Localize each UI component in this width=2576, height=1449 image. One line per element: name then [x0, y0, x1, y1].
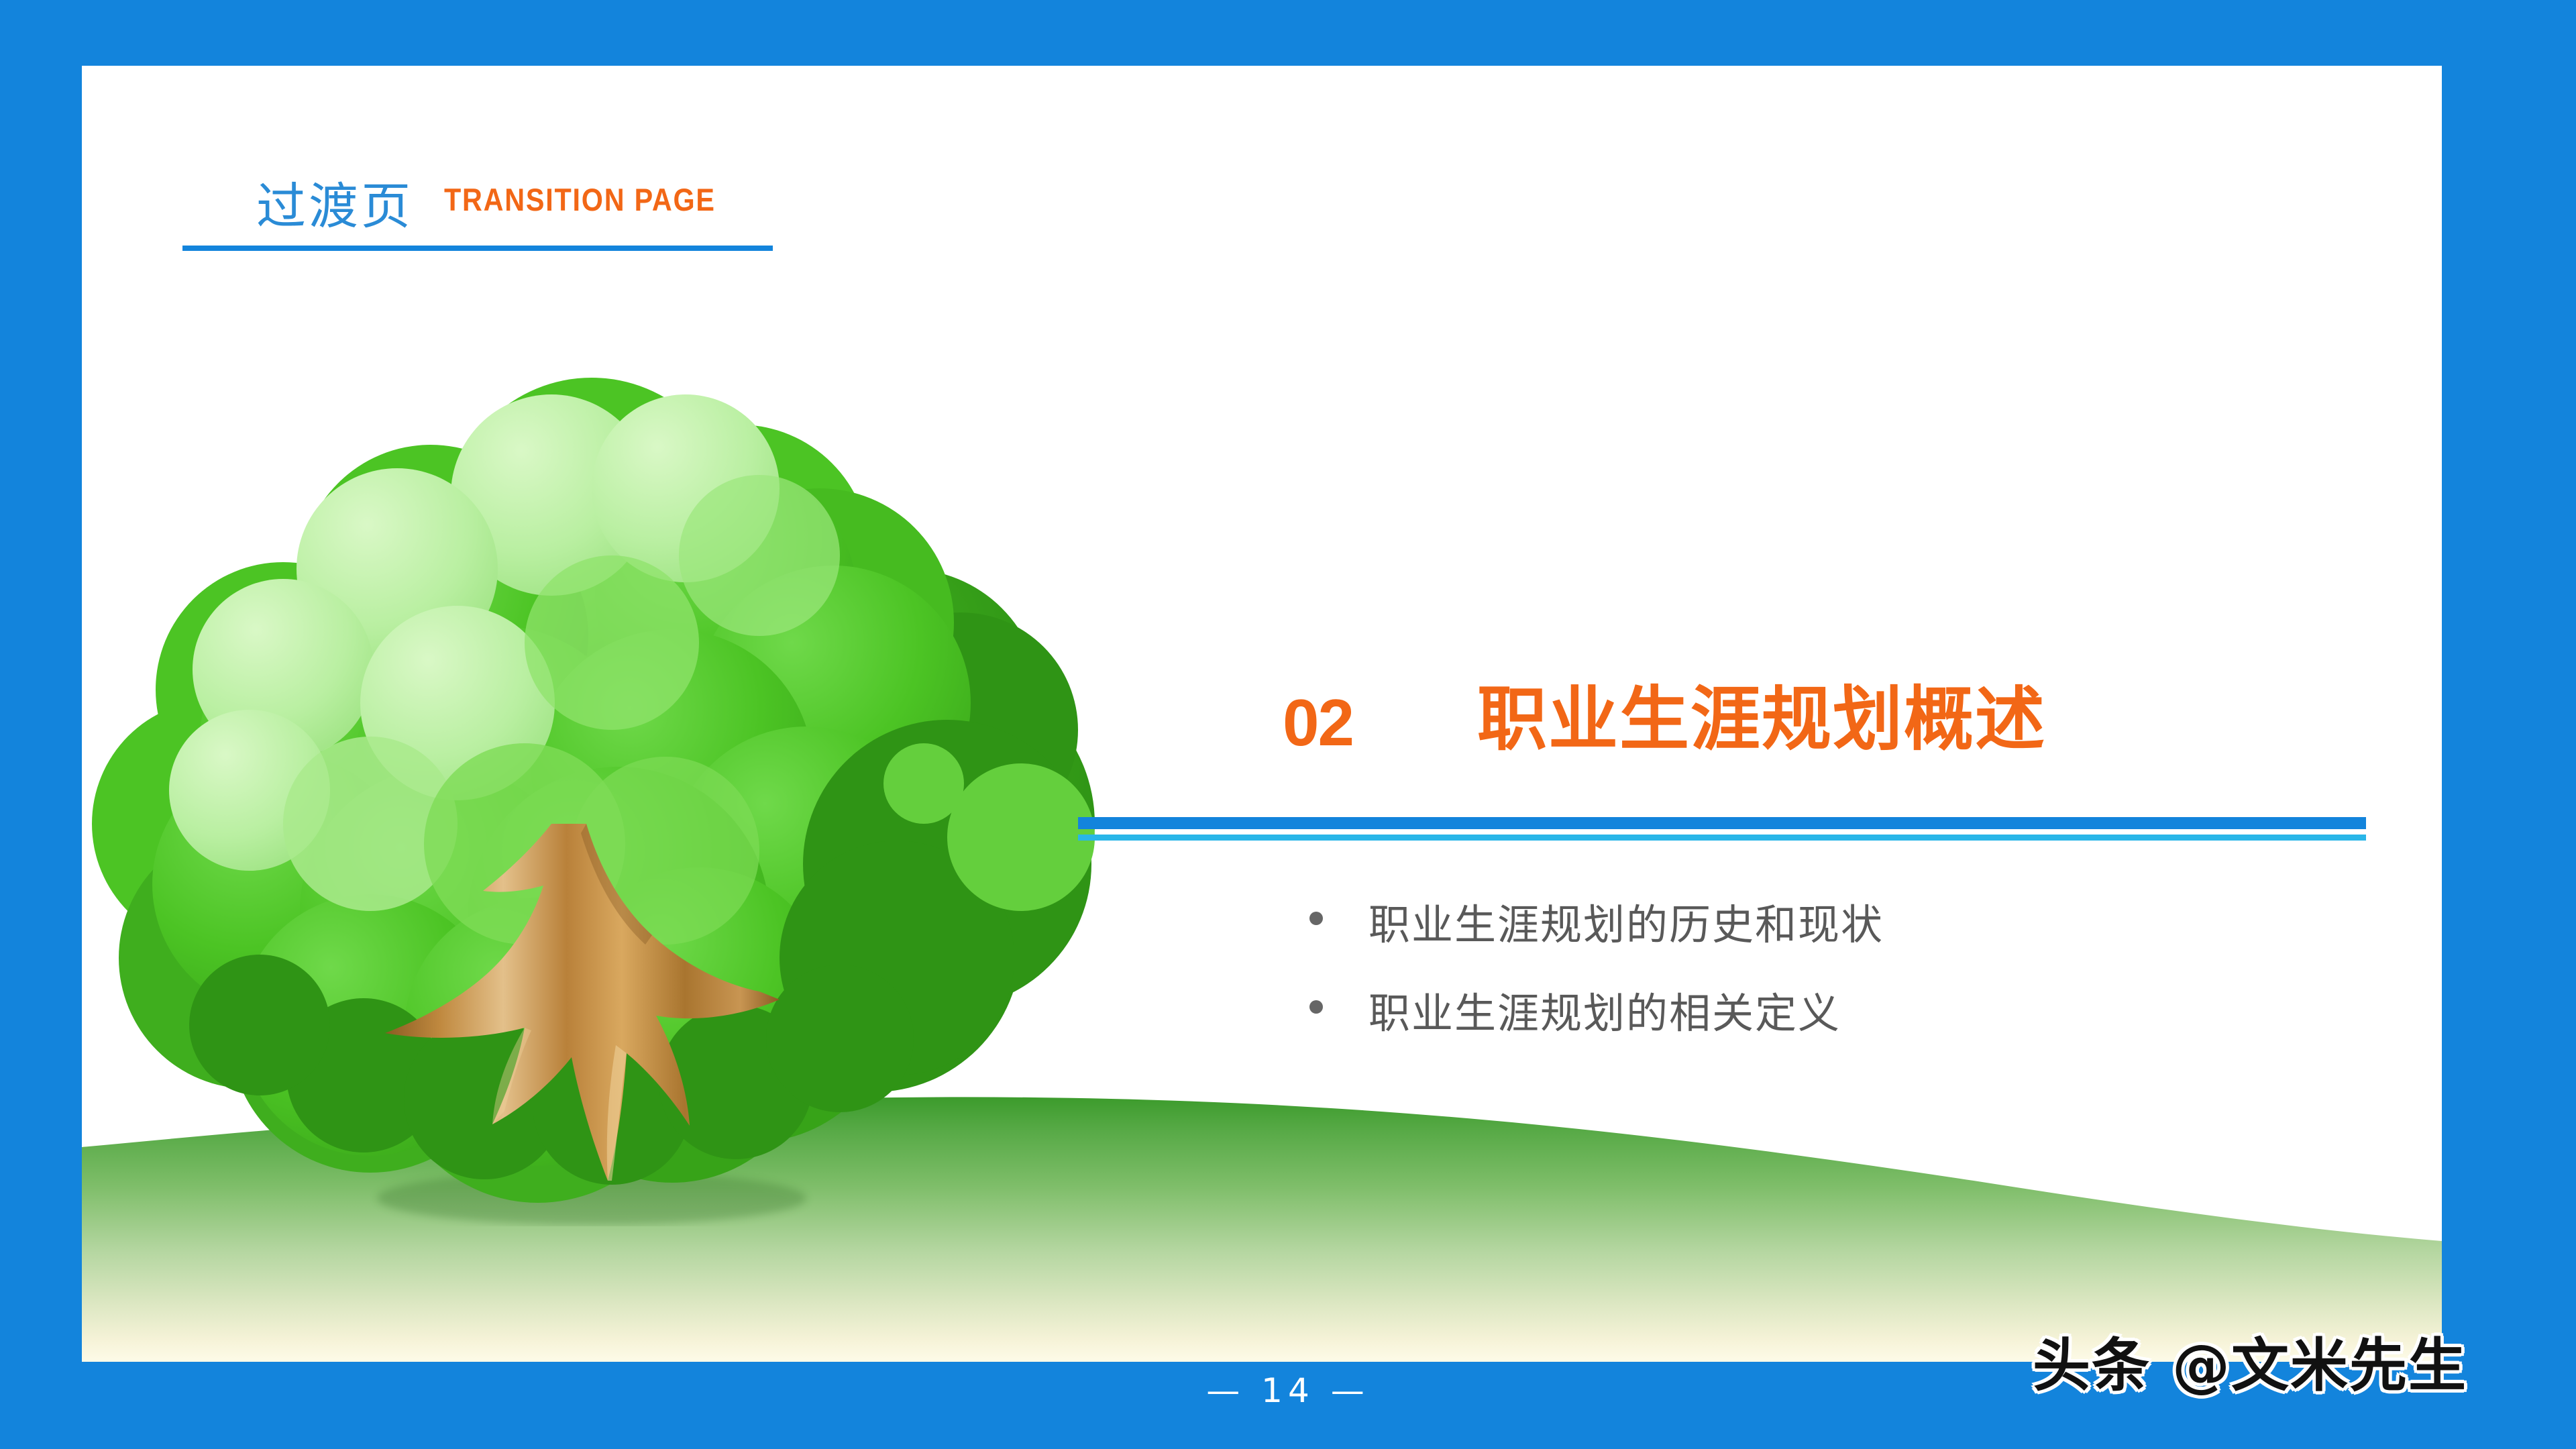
bullet-item: 职业生涯规划的相关定义 [1309, 979, 1841, 1040]
section-number: 02 [1283, 690, 1353, 755]
section-content: 02 职业生涯规划概述 职业生涯规划的历史和现状 职业生涯规划的相关定义 [1195, 629, 2403, 1059]
bullet-dot-icon [1309, 1000, 1323, 1014]
title-underline-primary [1078, 817, 2366, 829]
bullet-item: 职业生涯规划的历史和现状 [1309, 891, 1884, 951]
bullet-label: 职业生涯规划的历史和现状 [1368, 891, 1884, 951]
header-title-cn: 过渡页 [256, 166, 413, 238]
header: 过渡页 TRANSITION PAGE [182, 166, 773, 254]
slide-canvas: 过渡页 TRANSITION PAGE [82, 66, 2442, 1362]
tree-illustration [82, 354, 1128, 1226]
bullet-label: 职业生涯规划的相关定义 [1368, 979, 1841, 1040]
title-underline-secondary [1078, 835, 2366, 841]
section-title: 职业生涯规划概述 [1477, 684, 2046, 754]
header-title-en: TRANSITION PAGE [444, 181, 716, 218]
bullet-dot-icon [1309, 912, 1323, 925]
slide-root: 过渡页 TRANSITION PAGE [0, 0, 2576, 1449]
page-number: — 14 — [0, 1371, 2576, 1410]
header-underline [182, 246, 773, 251]
